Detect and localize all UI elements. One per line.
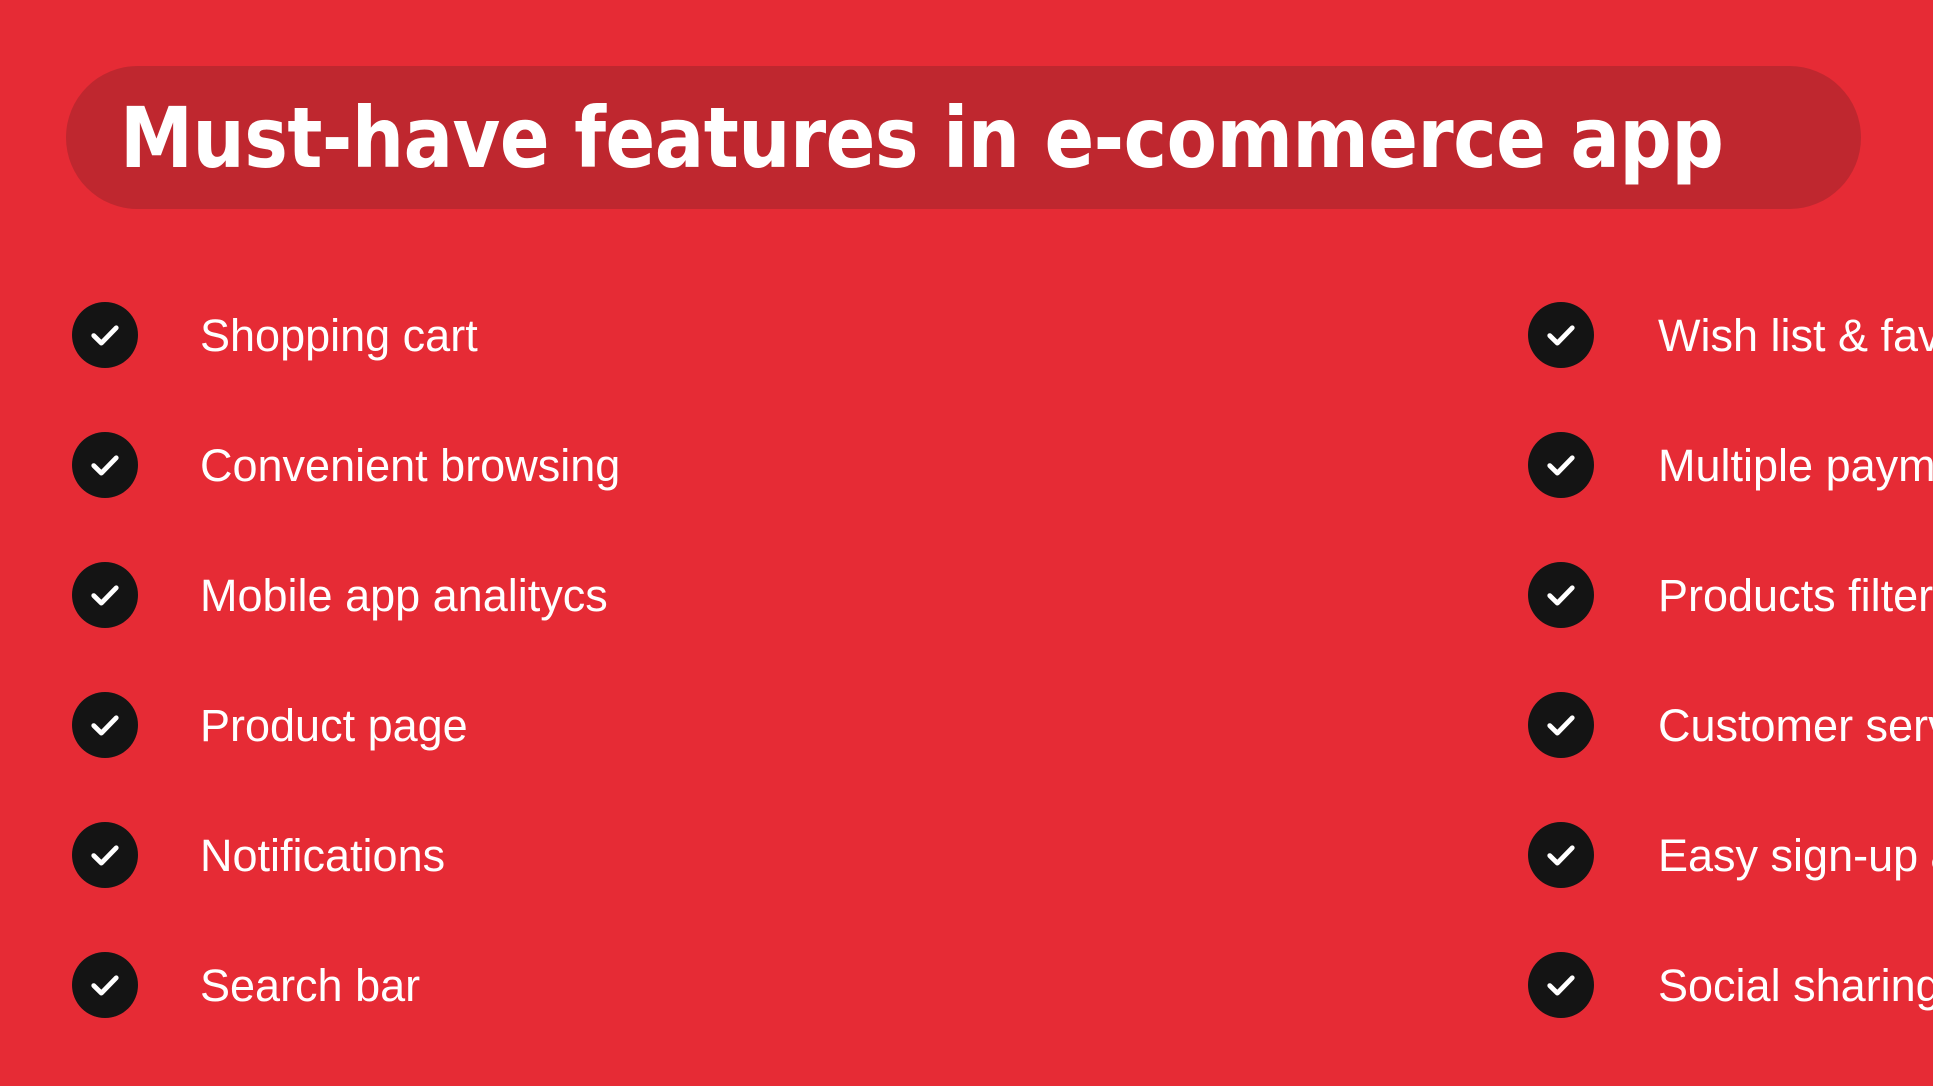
feature-label: Easy sign-up & login [1658,833,1933,878]
feature-label: Product page [200,703,468,748]
feature-item[interactable]: Social sharing [728,952,1933,1018]
feature-item[interactable]: Search bar [0,952,728,1018]
feature-label: Customer service contact [1658,703,1933,748]
feature-item[interactable]: Easy sign-up & login [728,822,1933,888]
check-icon [72,562,138,628]
feature-item[interactable]: Products filtering & sorting [728,562,1933,628]
feature-label: Wish list & favorites [1658,313,1933,358]
check-icon [1528,952,1594,1018]
feature-item[interactable]: Wish list & favorites [728,302,1933,368]
check-icon [72,432,138,498]
check-icon [72,302,138,368]
feature-label: Mobile app analitycs [200,573,608,618]
feature-item[interactable]: Mobile app analitycs [0,562,728,628]
feature-label: Convenient browsing [200,443,620,488]
check-icon [1528,822,1594,888]
check-icon [72,692,138,758]
page-title: Must-have features in e-commerce app [120,96,1723,180]
feature-item[interactable]: Convenient browsing [0,432,728,498]
feature-label: Products filtering & sorting [1658,573,1933,618]
feature-checklist: Shopping cart Wish list & favorites Conv… [0,302,1933,1082]
title-banner: Must-have features in e-commerce app [66,66,1861,209]
check-icon [1528,432,1594,498]
feature-label: Shopping cart [200,313,478,358]
check-icon [1528,302,1594,368]
feature-item[interactable]: Multiple payment options [728,432,1933,498]
feature-item[interactable]: Notifications [0,822,728,888]
feature-label: Notifications [200,833,445,878]
check-icon [1528,562,1594,628]
feature-label: Multiple payment options [1658,443,1933,488]
check-icon [1528,692,1594,758]
ecommerce-features-infographic: { "theme": { "background_color": "#E62B3… [0,0,1933,1086]
feature-item[interactable]: Product page [0,692,728,758]
feature-item[interactable]: Customer service contact [728,692,1933,758]
check-icon [72,822,138,888]
feature-label: Search bar [200,963,420,1008]
check-icon [72,952,138,1018]
feature-item[interactable]: Shopping cart [0,302,728,368]
feature-label: Social sharing [1658,963,1933,1008]
